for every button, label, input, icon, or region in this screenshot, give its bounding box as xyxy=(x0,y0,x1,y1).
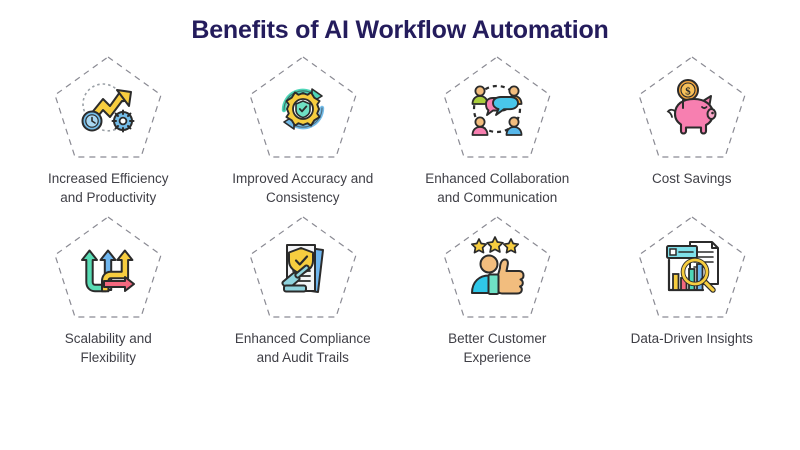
pentagon-frame xyxy=(49,211,167,323)
pentagon-frame xyxy=(244,51,362,163)
benefit-label: Increased Efficiency and Productivity xyxy=(48,169,169,207)
benefit-card-improved-accuracy[interactable]: Improved Accuracy and Consistency xyxy=(206,51,401,211)
benefit-label: Improved Accuracy and Consistency xyxy=(232,169,373,207)
infographic-page: Benefits of AI Workflow Automation xyxy=(0,16,800,450)
thumbs-up-stars-user-icon xyxy=(462,234,532,304)
benefit-label: Data-Driven Insights xyxy=(631,329,753,348)
benefit-card-better-customer-experience[interactable]: Better Customer Experience xyxy=(400,211,595,371)
benefit-card-cost-savings[interactable]: $ Cost Savings xyxy=(595,51,790,211)
team-speech-bubbles-icon xyxy=(462,74,532,144)
gear-shield-refresh-icon xyxy=(268,74,338,144)
pentagon-frame xyxy=(438,51,556,163)
pentagon-frame xyxy=(438,211,556,323)
pentagon-frame xyxy=(49,51,167,163)
document-shield-gavel-icon xyxy=(268,234,338,304)
benefit-label: Enhanced Collaboration and Communication xyxy=(425,169,569,207)
page-title: Benefits of AI Workflow Automation xyxy=(0,16,800,45)
benefit-label: Better Customer Experience xyxy=(448,329,546,367)
pentagon-frame xyxy=(633,211,751,323)
benefit-card-scalability-flexibility[interactable]: Scalability and Flexibility xyxy=(11,211,206,371)
benefit-label: Cost Savings xyxy=(652,169,732,188)
benefit-card-data-driven-insights[interactable]: Data-Driven Insights xyxy=(595,211,790,371)
benefit-label: Scalability and Flexibility xyxy=(65,329,152,367)
svg-text:$: $ xyxy=(685,86,691,98)
growth-chart-clock-gear-icon xyxy=(73,74,143,144)
branching-arrows-icon xyxy=(73,234,143,304)
benefit-card-increased-efficiency[interactable]: Increased Efficiency and Productivity xyxy=(11,51,206,211)
benefits-grid: Increased Efficiency and Productivity xyxy=(5,51,795,371)
benefit-card-enhanced-collaboration[interactable]: Enhanced Collaboration and Communication xyxy=(400,51,595,211)
benefit-label: Enhanced Compliance and Audit Trails xyxy=(235,329,371,367)
piggy-bank-coin-icon: $ xyxy=(657,74,727,144)
bar-chart-magnifier-icon xyxy=(657,234,727,304)
benefit-card-enhanced-compliance[interactable]: Enhanced Compliance and Audit Trails xyxy=(206,211,401,371)
pentagon-frame xyxy=(244,211,362,323)
pentagon-frame: $ xyxy=(633,51,751,163)
